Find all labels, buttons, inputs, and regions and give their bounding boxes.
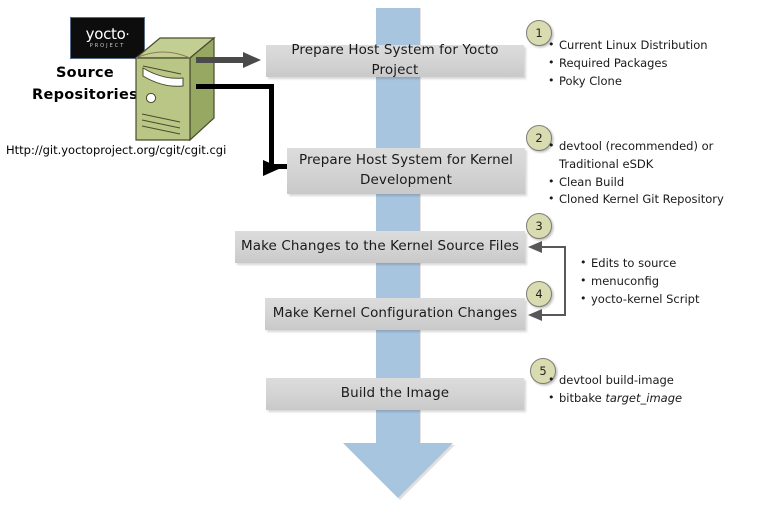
note-item: Clean Build	[548, 174, 724, 192]
note-command-prefix: bitbake	[559, 391, 605, 405]
connector-server-to-step1-arrowhead-icon	[243, 52, 261, 68]
note-item: yocto-kernel Script	[580, 291, 700, 309]
logo-wordmark: yocto·	[86, 27, 130, 42]
bracket-connector-bottom-segment	[540, 314, 565, 316]
process-box-step4[interactable]: Make Kernel Configuration Changes	[265, 298, 525, 330]
note-item: Edits to source	[580, 255, 700, 273]
server-tower-icon	[133, 36, 217, 144]
connector-server-to-step2-arrowhead-icon	[263, 160, 281, 176]
connector-server-to-step1-line	[196, 57, 246, 63]
note-item: Cloned Kernel Git Repository	[548, 191, 724, 209]
note-item: Poky Clone	[548, 73, 708, 91]
notes-steps-3-4: Edits to source menuconfig yocto-kernel …	[580, 255, 700, 308]
source-label-line1: Source	[26, 62, 144, 84]
bracket-connector-vertical	[564, 246, 566, 316]
note-item: Current Linux Distribution	[548, 37, 708, 55]
note-item: devtool build-image	[548, 372, 682, 390]
logo-dot: ·	[126, 28, 130, 43]
connector-server-to-step2-segment-v	[269, 84, 274, 169]
logo-text: yocto	[86, 25, 126, 43]
process-box-step3[interactable]: Make Changes to the Kernel Source Files	[235, 231, 525, 263]
logo-subtext: PROJECT	[90, 44, 126, 49]
note-command-arg: target_image	[605, 391, 682, 405]
step-number-3: 3	[526, 213, 552, 239]
note-line-continuation: Traditional eSDK	[559, 156, 724, 174]
note-item: menuconfig	[580, 273, 700, 291]
bracket-connector-top-segment	[540, 246, 565, 248]
note-item: Required Packages	[548, 55, 708, 73]
diagram-canvas: yocto· PROJECT Source Repositories Http:…	[0, 0, 769, 517]
bracket-arrowhead-step3-icon	[528, 241, 542, 253]
step-number-4: 4	[526, 281, 552, 307]
connector-server-to-step2-segment-h1	[196, 84, 274, 89]
bracket-arrowhead-step4-icon	[528, 309, 542, 321]
source-repository-url: Http://git.yoctoproject.org/cgit/cgit.cg…	[6, 143, 226, 157]
flow-arrow-head-icon	[343, 443, 453, 498]
source-label-line2: Repositories	[26, 84, 144, 106]
process-box-step5[interactable]: Build the Image	[266, 378, 524, 410]
note-item: bitbake target_image	[548, 390, 682, 408]
process-box-step2[interactable]: Prepare Host System for Kernel Developme…	[287, 148, 525, 194]
notes-step1: Current Linux Distribution Required Pack…	[548, 37, 708, 90]
note-line-primary: devtool (recommended) or	[559, 139, 713, 153]
source-repositories-label: Source Repositories	[26, 62, 144, 107]
process-box-step1[interactable]: Prepare Host System for Yocto Project	[266, 45, 524, 77]
notes-step5: devtool build-image bitbake target_image	[548, 372, 682, 408]
note-item: devtool (recommended) or Traditional eSD…	[548, 138, 724, 174]
notes-step2: devtool (recommended) or Traditional eSD…	[548, 138, 724, 209]
